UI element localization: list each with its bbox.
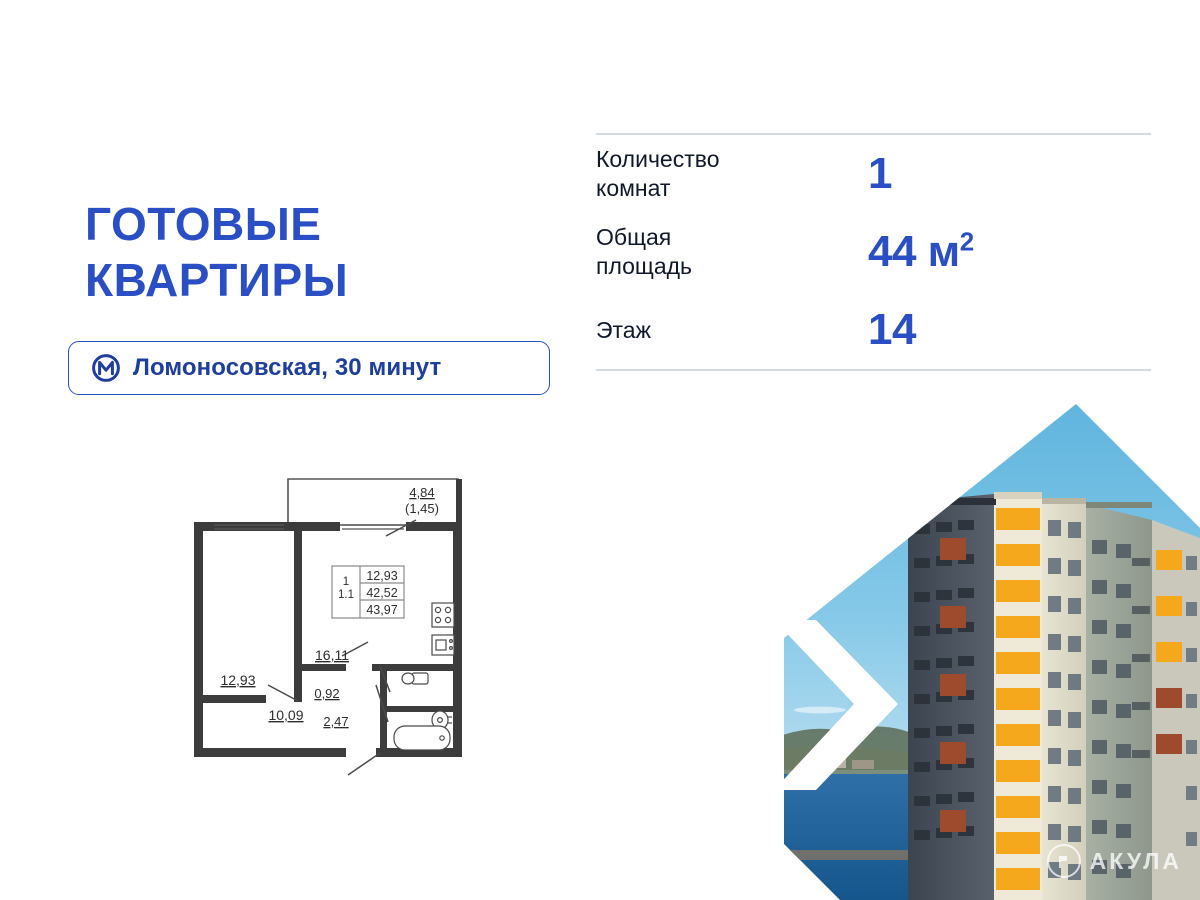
metro-station-label: Ломоносовская, 30 минут [133,354,441,382]
spec-row-floor: Этаж 14 [596,291,1151,369]
spec-label-rooms: Количество комнат [596,145,868,203]
spec-value-rooms: 1 [868,152,892,196]
stamp-apartment-sub: 1.1 [338,589,354,601]
stamp-area-total: 43,97 [366,603,397,617]
apartment-specs: Количество комнат 1 Общая площадь 44 м2 … [596,133,1151,371]
label-balcony-area-bottom: (1,45) [405,501,439,516]
spec-label-floor: Этаж [596,316,868,345]
metro-badge[interactable]: Ломоносовская, 30 минут [68,341,550,395]
spec-value-floor: 14 [868,308,916,352]
plan-stamp: 1 1.1 12,93 42,52 43,97 [332,566,404,618]
spec-value-area-unit: 2 [960,226,974,256]
spec-row-rooms: Количество комнат 1 [596,135,1151,213]
page-title: ГОТОВЫЕ КВАРТИРЫ [85,196,348,308]
label-room-width: 10,09 [268,707,303,723]
spec-label-area: Общая площадь [596,223,868,281]
plan-fixtures [394,603,454,750]
stamp-area-no-balcony: 42,52 [366,586,397,600]
spec-value-area: 44 м2 [868,230,974,274]
floor-plan: 1 1.1 12,93 42,52 43,97 4,84 (1,45) 12,9… [190,470,490,790]
building-photo: АКУЛА [780,398,1200,900]
stamp-living-area: 12,93 [366,569,397,583]
label-room-area: 12,93 [220,672,255,688]
metro-m-icon [92,354,120,382]
stove-icon [432,603,454,627]
bathtub-icon [394,726,450,750]
toilet-icon [402,673,428,684]
spec-value-area-number: 44 м [868,227,960,276]
label-kitchen-living-area: 16,11 [315,647,349,663]
label-wc-area: 0,92 [314,686,339,701]
label-bathroom-area: 2,47 [323,714,348,729]
label-balcony-area-top: 4,84 [409,485,434,500]
kitchen-sink-icon [432,635,454,655]
stamp-apartment-no: 1 [343,576,349,588]
spec-row-area: Общая площадь 44 м2 [596,213,1151,291]
spec-divider-bottom [596,369,1151,371]
